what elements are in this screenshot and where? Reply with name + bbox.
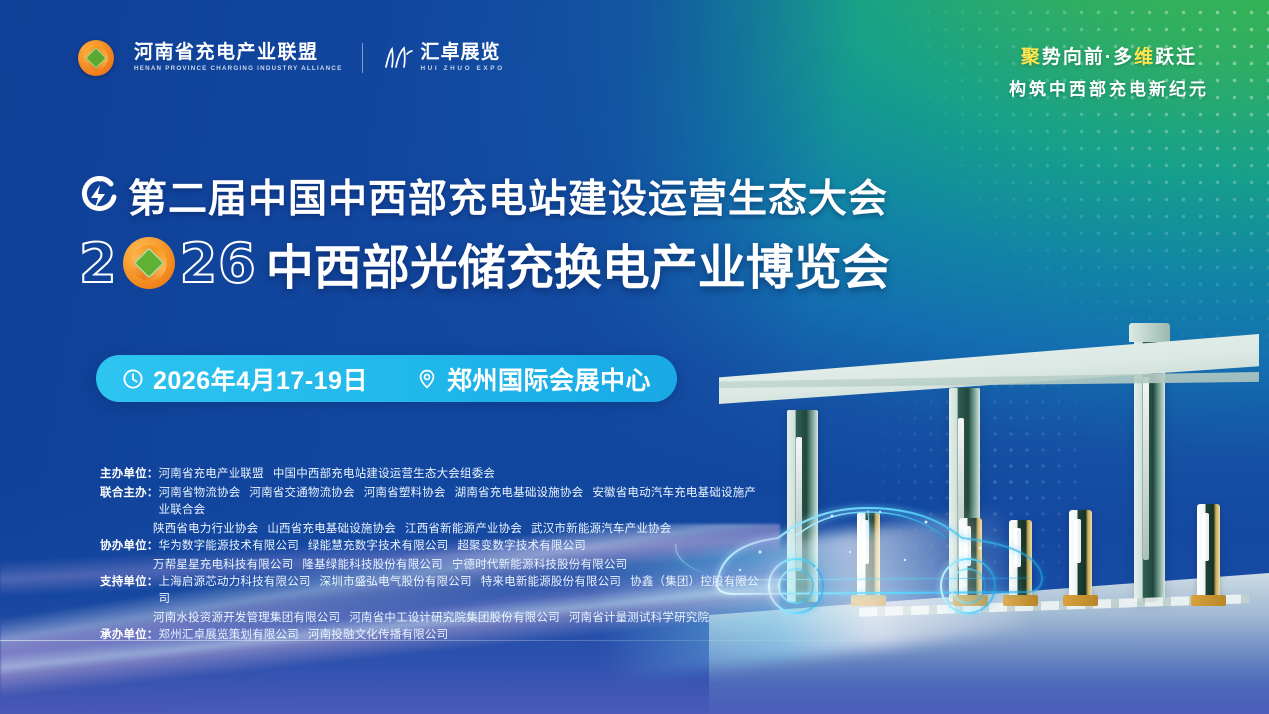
- station-canopy: [719, 334, 1259, 404]
- organizer-item: 河南省计量测试科学研究院: [569, 612, 709, 624]
- title-block: 第二届中国中西部充电站建设运营生态大会 2 26 中西部光储充换电产业博览会: [78, 168, 890, 298]
- slogan-highlight-wei: 维: [1134, 47, 1155, 68]
- organizer-label: 联合主办：: [100, 485, 159, 502]
- organizer-item: 河南省交通物流协会: [249, 487, 354, 499]
- title-line-2-row: 2 26 中西部光储充换电产业博览会: [78, 228, 890, 298]
- organizer-item: 武汉市新能源汽车产业协会: [531, 523, 671, 535]
- organizer-label: 主办单位：: [100, 466, 159, 483]
- expo-brush-icon: [383, 45, 413, 71]
- year-digit-2: 2: [78, 232, 119, 295]
- alliance-name-cn: 河南省充电产业联盟: [134, 43, 342, 63]
- organizer-item: 湖南省充电基础设施协会: [455, 487, 584, 499]
- organizer-row: 协办单位：华为数字能源技术有限公司绿能慧充数字技术有限公司超聚变数字技术有限公司: [100, 538, 760, 555]
- organizer-continuation-row: 陕西省电力行业协会山西省充电基础设施协会江西省新能源产业协会武汉市新能源汽车产业…: [100, 521, 760, 538]
- location-pin-icon: [416, 368, 438, 390]
- title-line-1: 第二届中国中西部充电站建设运营生态大会: [128, 168, 888, 224]
- organizer-continuation-row: 河南水投资源开发管理集团有限公司河南省中工设计研究院集团股份有限公司河南省计量测…: [100, 610, 760, 627]
- organizer-label: 承办单位：: [100, 627, 159, 644]
- organizer-item: 华为数字能源技术有限公司: [159, 540, 299, 552]
- organizer-item: 万帮星星充电科技有限公司: [153, 559, 293, 571]
- event-date: 2026年4月17-19日: [153, 361, 368, 397]
- slogan-part-b: 势向前·多: [1042, 47, 1134, 68]
- organizer-item: 江西省新能源产业协会: [405, 523, 522, 535]
- organizer-item: 中国中西部充电站建设运营生态大会组委会: [273, 468, 495, 480]
- organizer-item: 特来电新能源股份有限公司: [481, 576, 621, 588]
- date-venue-pill[interactable]: 2026年4月17-19日 郑州国际会展中心: [96, 355, 677, 402]
- slogan-line-1: 聚势向前·多维跃迁: [1009, 42, 1209, 69]
- organizer-label: 支持单位：: [100, 574, 159, 591]
- organizer-values: 河南省充电产业联盟中国中西部充电站建设运营生态大会组委会: [159, 466, 496, 483]
- organizer-row: 联合主办：河南省物流协会河南省交通物流协会河南省塑料协会湖南省充电基础设施协会安…: [100, 485, 760, 519]
- organizer-item: 超聚变数字技术有限公司: [457, 540, 586, 552]
- organizer-item: 山西省充电基础设施协会: [267, 523, 396, 535]
- alliance-logo-text: 河南省充电产业联盟 HENAN PROVINCE CHARGING INDUST…: [134, 43, 342, 73]
- expo-name-cn: 汇卓展览: [420, 43, 504, 63]
- alliance-name-en: HENAN PROVINCE CHARGING INDUSTRY ALLIANC…: [134, 66, 342, 73]
- slogan-highlight-ju: 聚: [1021, 47, 1042, 68]
- date-segment: 2026年4月17-19日: [122, 361, 368, 397]
- expo-logo: 汇卓展览 HUI ZHUO EXPO: [383, 43, 504, 73]
- organizer-item: 河南省塑料协会: [364, 487, 446, 499]
- organizer-item: 上海启源芯动力科技有限公司: [159, 576, 311, 588]
- organizer-item: 深圳市盛弘电气股份有限公司: [320, 576, 472, 588]
- event-venue: 郑州国际会展中心: [447, 361, 651, 397]
- organizer-values: 上海启源芯动力科技有限公司深圳市盛弘电气股份有限公司特来电新能源股份有限公司协鑫…: [159, 574, 761, 608]
- organizer-item: 河南省中工设计研究院集团股份有限公司: [349, 612, 560, 624]
- year-digit-26: 26: [179, 232, 258, 295]
- slogan-line-2: 构筑中西部充电新纪元: [1009, 75, 1209, 100]
- poster-canvas: 河南省充电产业联盟 HENAN PROVINCE CHARGING INDUST…: [0, 0, 1269, 714]
- organizer-item: 陕西省电力行业协会: [153, 523, 258, 535]
- year-digits-26: 26: [179, 232, 258, 295]
- organizer-continuation-row: 万帮星星充电科技有限公司隆基绿能科技股份有限公司宁德时代新能源科技股份有限公司: [100, 557, 760, 574]
- alliance-logo-icon: [78, 40, 114, 76]
- organizer-values: 郑州汇卓展览策划有限公司河南投融文化传播有限公司: [159, 627, 449, 644]
- organizer-row: 主办单位：河南省充电产业联盟中国中西部充电站建设运营生态大会组委会: [100, 466, 760, 483]
- organizer-row: 支持单位：上海启源芯动力科技有限公司深圳市盛弘电气股份有限公司特来电新能源股份有…: [100, 574, 760, 608]
- year-2026: 2: [78, 232, 119, 295]
- slogan-block: 聚势向前·多维跃迁 构筑中西部充电新纪元: [1009, 42, 1209, 100]
- organizer-item: 河南水投资源开发管理集团有限公司: [153, 612, 340, 624]
- lightning-bolt-icon: [78, 175, 120, 217]
- organizer-item: 隆基绿能科技股份有限公司: [302, 559, 442, 571]
- header-logos: 河南省充电产业联盟 HENAN PROVINCE CHARGING INDUST…: [78, 40, 505, 76]
- title-line-2: 中西部光储充换电产业博览会: [266, 228, 890, 298]
- slogan-part-d: 跃迁: [1155, 47, 1197, 68]
- organizer-values: 河南省物流协会河南省交通物流协会河南省塑料协会湖南省充电基础设施协会安徽省电动汽…: [159, 485, 761, 519]
- year-logo-mark-icon: [123, 237, 175, 289]
- organizer-item: 河南投融文化传播有限公司: [308, 629, 448, 641]
- organizer-item: 河南省物流协会: [159, 487, 241, 499]
- clock-icon: [122, 368, 144, 390]
- organizers-block: 主办单位：河南省充电产业联盟中国中西部充电站建设运营生态大会组委会联合主办：河南…: [100, 466, 760, 646]
- ev-charger-unit: [1069, 510, 1092, 596]
- ev-charger-unit: [1197, 504, 1220, 596]
- organizer-item: 郑州汇卓展览策划有限公司: [159, 629, 299, 641]
- expo-name-en: HUI ZHUO EXPO: [420, 66, 504, 73]
- organizer-item: 绿能慧充数字技术有限公司: [308, 540, 448, 552]
- organizer-row: 承办单位：郑州汇卓展览策划有限公司河南投融文化传播有限公司: [100, 627, 760, 644]
- organizer-label: 协办单位：: [100, 538, 159, 555]
- title-line-1-row: 第二届中国中西部充电站建设运营生态大会: [78, 168, 890, 224]
- venue-segment: 郑州国际会展中心: [416, 361, 651, 397]
- organizer-values: 华为数字能源技术有限公司绿能慧充数字技术有限公司超聚变数字技术有限公司: [159, 538, 587, 555]
- organizer-item: 河南省充电产业联盟: [159, 468, 264, 480]
- organizer-item: 宁德时代新能源科技股份有限公司: [452, 559, 628, 571]
- logo-divider: [362, 43, 363, 73]
